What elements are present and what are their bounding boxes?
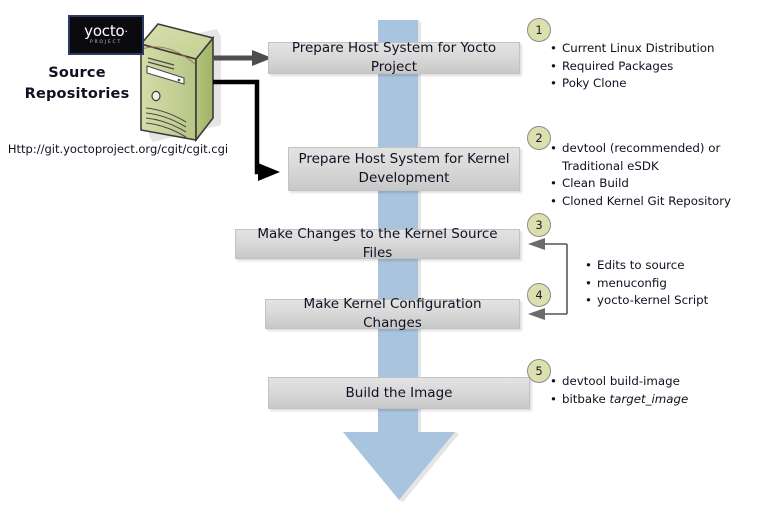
logo-dot: · bbox=[125, 25, 128, 38]
list-item: Poky Clone bbox=[550, 75, 714, 93]
list-item: Current Linux Distribution bbox=[550, 40, 714, 58]
step-number-circle-2: 2 bbox=[527, 126, 551, 150]
process-box-step-4[interactable]: Make Kernel Configuration Changes bbox=[265, 299, 520, 329]
list-item: bitbake target_image bbox=[550, 391, 688, 409]
logo-word-text: yocto bbox=[84, 22, 124, 40]
bullet-list-step-2: devtool (recommended) or Traditional eSD… bbox=[550, 140, 731, 210]
list-item: menuconfig bbox=[585, 275, 708, 293]
step-number-circle-5: 5 bbox=[527, 359, 551, 383]
step-number-circle-3: 3 bbox=[527, 213, 551, 237]
bullet-list-steps-3-and-4: Edits to source menuconfig yocto-kernel … bbox=[585, 257, 708, 310]
list-item: Edits to source bbox=[585, 257, 708, 275]
logo-subtitle: PROJECT bbox=[90, 41, 122, 46]
server-tower-icon bbox=[141, 24, 221, 142]
list-item: devtool (recommended) or Traditional eSD… bbox=[550, 140, 722, 175]
source-repositories-label: Source Repositories bbox=[12, 63, 142, 105]
logo-wordmark: yocto· bbox=[84, 24, 128, 39]
bullet-list-step-1: Current Linux Distribution Required Pack… bbox=[550, 40, 714, 93]
source-label-line1: Source bbox=[12, 63, 142, 84]
process-box-step-5[interactable]: Build the Image bbox=[268, 377, 530, 409]
process-box-step-2[interactable]: Prepare Host System for Kernel Developme… bbox=[288, 147, 520, 191]
list-item: Required Packages bbox=[550, 58, 714, 76]
source-repository-url: Http://git.yoctoproject.org/cgit/cgit.cg… bbox=[4, 142, 232, 156]
process-box-step-1[interactable]: Prepare Host System for Yocto Project bbox=[268, 42, 520, 74]
list-item: Clean Build bbox=[550, 175, 731, 193]
connector-server-to-step2 bbox=[213, 82, 280, 181]
process-box-step-3[interactable]: Make Changes to the Kernel Source Files bbox=[235, 229, 520, 259]
bitbake-target-image-variable: target_image bbox=[610, 392, 689, 406]
source-label-line2: Repositories bbox=[12, 84, 142, 105]
diagram-canvas: yocto· PROJECT Source Repositories Http:… bbox=[0, 0, 769, 517]
step-number-circle-4: 4 bbox=[527, 283, 551, 307]
bitbake-command-prefix: bitbake bbox=[562, 392, 610, 406]
bullet-list-step-5: devtool build-image bitbake target_image bbox=[550, 373, 688, 408]
list-item: devtool build-image bbox=[550, 373, 688, 391]
yocto-project-logo: yocto· PROJECT bbox=[68, 15, 144, 55]
connector-bracket-steps-3-4 bbox=[528, 238, 567, 320]
list-item: Cloned Kernel Git Repository bbox=[550, 193, 731, 211]
step-number-circle-1: 1 bbox=[527, 18, 551, 42]
list-item: yocto-kernel Script bbox=[585, 292, 708, 310]
connector-server-to-step1 bbox=[213, 50, 272, 66]
